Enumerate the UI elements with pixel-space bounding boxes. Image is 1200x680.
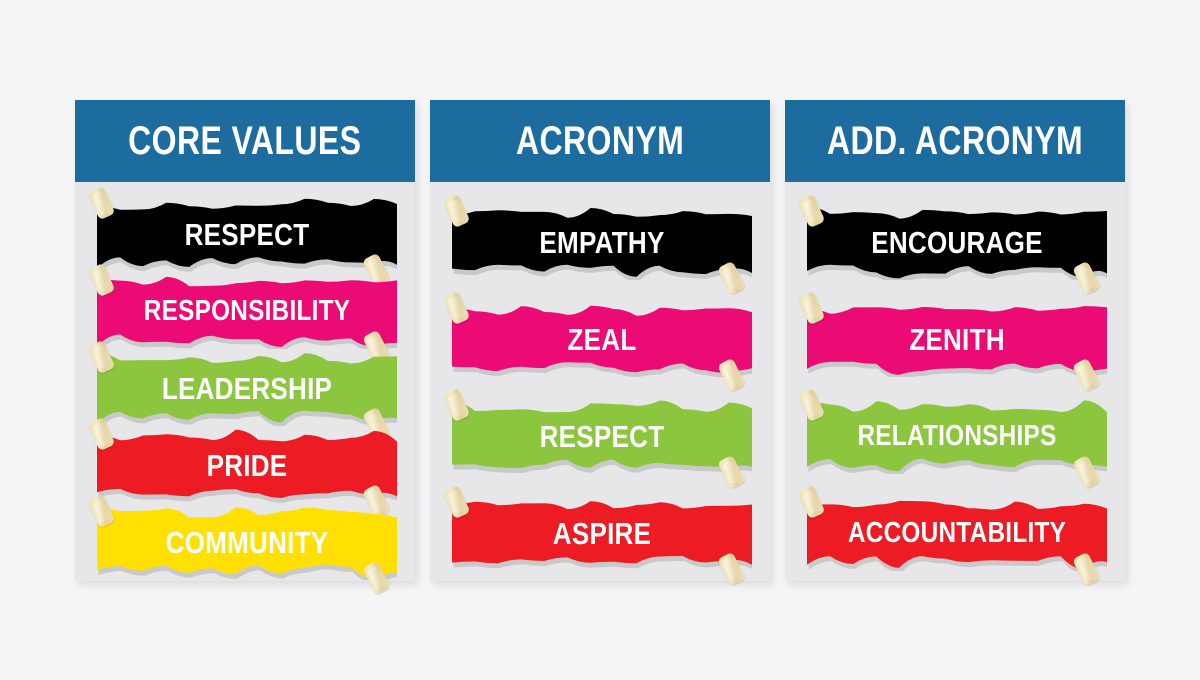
- torn-paper-shape: [452, 204, 752, 280]
- value-strip[interactable]: ZEAL: [452, 301, 752, 377]
- value-strip[interactable]: EMPATHY: [452, 204, 752, 280]
- value-strip-list: ENCOURAGEZENITHRELATIONSHIPSACCOUNTABILI…: [785, 182, 1125, 581]
- value-strip[interactable]: RESPECT: [97, 196, 397, 272]
- torn-paper-shape: [97, 273, 397, 349]
- infographic-board: CORE VALUESRESPECTRESPONSIBILITYLEADERSH…: [0, 0, 1200, 680]
- value-strip[interactable]: RESPECT: [452, 398, 752, 474]
- torn-paper-shape: [807, 301, 1107, 377]
- torn-paper-shape: [97, 350, 397, 426]
- panel-1: CORE VALUESRESPECTRESPONSIBILITYLEADERSH…: [75, 100, 415, 581]
- panel-header: CORE VALUES: [75, 100, 415, 182]
- panel-title: CORE VALUES: [128, 121, 361, 161]
- value-strip[interactable]: RESPONSIBILITY: [97, 273, 397, 349]
- value-strip[interactable]: ZENITH: [807, 301, 1107, 377]
- torn-paper-shape: [97, 196, 397, 272]
- torn-paper-shape: [807, 398, 1107, 474]
- panel-title: ADD. ACRONYM: [827, 121, 1083, 161]
- panel-2: ACRONYMEMPATHYZEALRESPECTASPIRE: [430, 100, 770, 581]
- torn-paper-shape: [452, 398, 752, 474]
- value-strip[interactable]: COMMUNITY: [97, 504, 397, 580]
- value-strip[interactable]: LEADERSHIP: [97, 350, 397, 426]
- value-strip[interactable]: ACCOUNTABILITY: [807, 495, 1107, 571]
- value-strip[interactable]: ENCOURAGE: [807, 204, 1107, 280]
- torn-paper-shape: [807, 204, 1107, 280]
- value-strip[interactable]: PRIDE: [97, 427, 397, 503]
- value-strip-list: RESPECTRESPONSIBILITYLEADERSHIPPRIDECOMM…: [75, 182, 415, 581]
- torn-paper-shape: [97, 504, 397, 580]
- value-strip[interactable]: ASPIRE: [452, 495, 752, 571]
- torn-paper-shape: [452, 301, 752, 377]
- value-strip-list: EMPATHYZEALRESPECTASPIRE: [430, 182, 770, 581]
- value-strip[interactable]: RELATIONSHIPS: [807, 398, 1107, 474]
- panel-header: ACRONYM: [430, 100, 770, 182]
- panel-title: ACRONYM: [516, 121, 684, 161]
- torn-paper-shape: [807, 495, 1107, 571]
- torn-paper-shape: [97, 427, 397, 503]
- panel-3: ADD. ACRONYMENCOURAGEZENITHRELATIONSHIPS…: [785, 100, 1125, 581]
- panel-header: ADD. ACRONYM: [785, 100, 1125, 182]
- torn-paper-shape: [452, 495, 752, 571]
